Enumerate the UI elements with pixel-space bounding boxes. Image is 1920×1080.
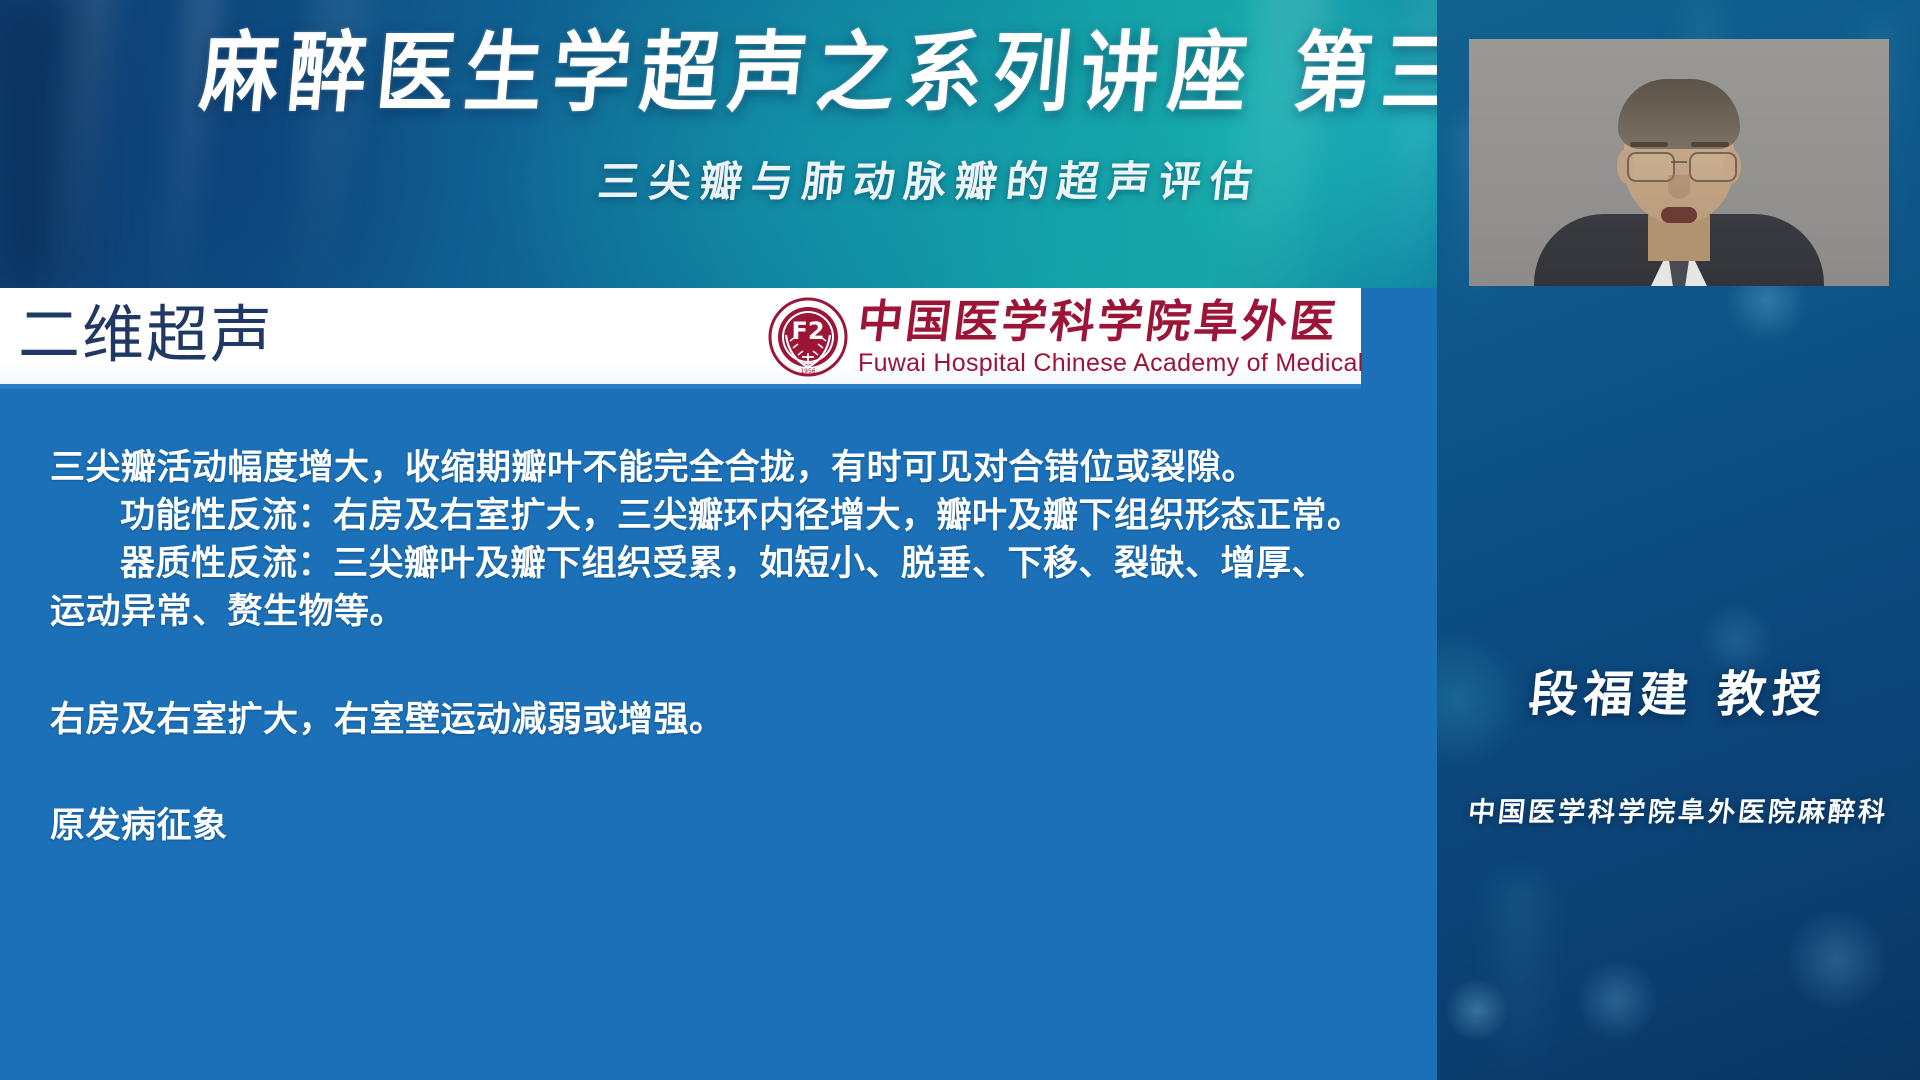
fuwai-hospital-emblem-icon: F2 1956 — [768, 297, 848, 377]
slide-body-line: 原发病征象 — [50, 802, 1390, 850]
fuwai-mark-letters: F2 — [791, 317, 824, 345]
speaker-name: 段福建 教授 — [1437, 655, 1920, 726]
speaker-mouth — [1661, 207, 1697, 223]
slide-title: 二维超声 — [18, 296, 274, 374]
presentation-slide: 二维超声 F2 — [0, 288, 1437, 1080]
speaker-webcam-feed[interactable] — [1469, 39, 1889, 286]
slide-body-line: 运动异常、赘生物等。 — [50, 588, 1390, 636]
slide-header-rule — [0, 384, 1361, 389]
speaker-eyebrow — [1630, 142, 1668, 147]
speaker-nose — [1668, 175, 1690, 199]
speaker-eyebrow — [1691, 142, 1729, 147]
slide-body-line: 器质性反流：三尖瓣叶及瓣下组织受累，如短小、脱垂、下移、裂缺、增厚、 — [50, 540, 1390, 588]
fuwai-hospital-logo: F2 1956 中国医学科学院阜外医 Fuwai Hospital Chines… — [768, 291, 1368, 383]
slide-body-text: 三尖瓣活动幅度增大，收缩期瓣叶不能完全合拢，有时可见对合错位或裂隙。 功能性反流… — [50, 444, 1390, 850]
webinar-stage: 麻醉医生学超声之系列讲座 第三场 三尖瓣与肺动脉瓣的超声评估 LNHDA — [0, 0, 1920, 1080]
speaker-panel: 段福建 教授 中国医学科学院阜外医院麻醉科 — [1437, 0, 1920, 1080]
fuwai-name-english: Fuwai Hospital Chinese Academy of Medica… — [858, 348, 1368, 378]
panel-light-streak — [1497, 880, 1543, 1080]
fuwai-name-chinese: 中国医学科学院阜外医 — [858, 296, 1368, 348]
slide-body-line: 功能性反流：右房及右室扩大，三尖瓣环内径增大，瓣叶及瓣下组织形态正常。 — [50, 492, 1390, 540]
glasses-bridge — [1671, 161, 1687, 163]
speaker-affiliation: 中国医学科学院阜外医院麻醉科 — [1437, 790, 1920, 829]
glasses-lens — [1689, 152, 1737, 182]
slide-body-line: 三尖瓣活动幅度增大，收缩期瓣叶不能完全合拢，有时可见对合错位或裂隙。 — [50, 444, 1390, 492]
slide-body-line: 右房及右室扩大，右室壁运动减弱或增强。 — [50, 696, 1390, 744]
speaker-hair — [1618, 79, 1740, 149]
svg-text:1956: 1956 — [800, 368, 815, 375]
